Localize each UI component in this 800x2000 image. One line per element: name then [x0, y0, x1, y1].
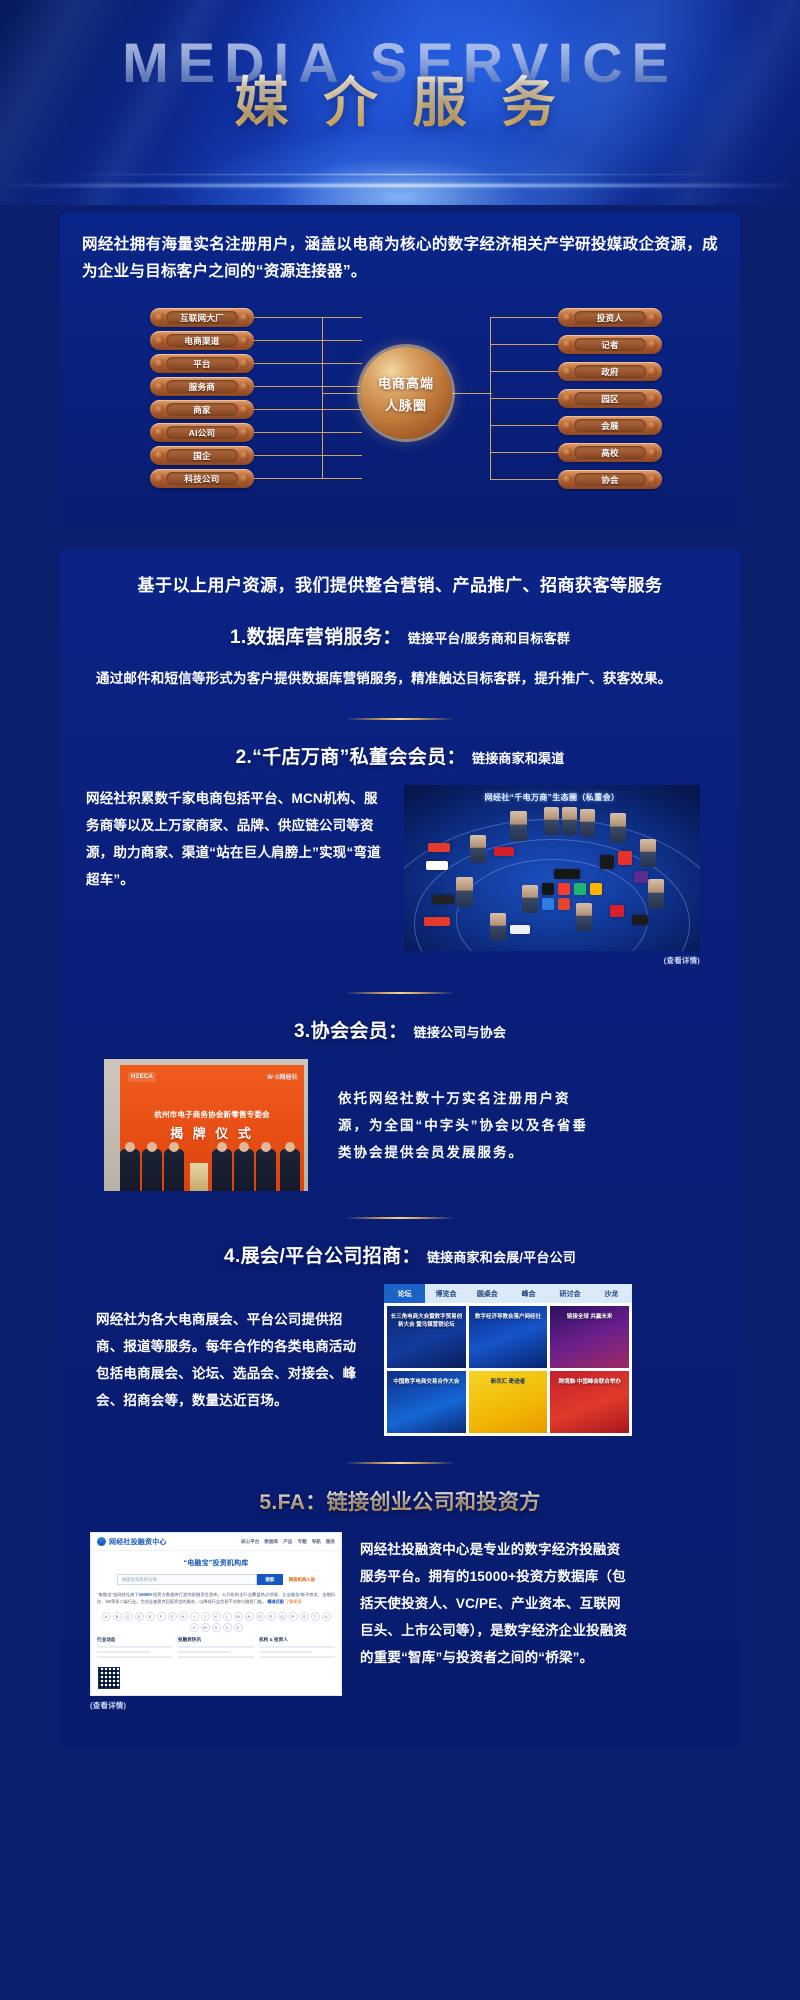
events-tab-bar[interactable]: 论坛 博览会 圆桌会 峰会 研讨会 沙龙 — [384, 1284, 632, 1303]
node-label: AI公司 — [189, 427, 216, 439]
person-photo — [580, 809, 595, 837]
nav-item-4[interactable]: 导航 — [312, 1539, 321, 1545]
section-5-image-block[interactable]: 网经社投融资中心 核心平台 数据库 产品 专题 导航 服务 “电融宝 — [90, 1532, 342, 1711]
node-label: 高校 — [601, 447, 619, 459]
node-label: 园区 — [601, 393, 619, 405]
qr-code-icon — [98, 1667, 120, 1689]
node-label: 互联网大厂 — [180, 312, 224, 324]
diagram-node-left[interactable]: 商家 — [150, 400, 254, 419]
az-letter[interactable]: H — [179, 1612, 188, 1621]
brand-logo-chip — [542, 883, 554, 895]
brand-logo-chip — [432, 895, 454, 904]
diagram-wire — [254, 455, 362, 456]
az-letter[interactable]: B — [113, 1612, 122, 1621]
az-letter[interactable]: M — [234, 1612, 243, 1621]
alphabet-filter[interactable]: A B C D E F G H I J K L M — [91, 1612, 341, 1632]
az-letter[interactable]: O — [256, 1612, 265, 1621]
event-card[interactable]: 长三角电商大会暨数字贸易创新大会 暨乌镇营销论坛 — [387, 1306, 466, 1368]
diagram-node-left[interactable]: AI公司 — [150, 423, 254, 442]
description-count: 15000+ — [139, 1592, 153, 1597]
node-label: 投资人 — [597, 312, 623, 324]
section-5-image-caption[interactable]: (查看详情) — [90, 1700, 342, 1711]
az-letter[interactable]: R — [289, 1612, 298, 1621]
az-letter[interactable]: F — [157, 1612, 166, 1621]
diagram-node-right[interactable]: 政府 — [558, 362, 662, 381]
diagram-wire — [254, 432, 362, 433]
brand-logo-chip — [632, 915, 648, 925]
diagram-wire — [490, 344, 558, 345]
diagram-hub: 电商高端 人脉圈 — [360, 347, 452, 439]
column-line — [97, 1646, 173, 1648]
section-1-title: 1.数据库营销服务：链接平台/服务商和目标客群 — [86, 622, 714, 649]
diagram-wire — [322, 317, 323, 479]
event-card-title: 长三角电商大会暨数字贸易创新大会 暨乌镇营销论坛 — [390, 1314, 463, 1329]
node-label: 政府 — [601, 366, 619, 378]
event-card-title: 数字经济导教会落户网经社 — [472, 1314, 545, 1321]
ecosystem-map-image: 网经社“千电万商”生态圈（私董会） — [404, 785, 700, 951]
diagram-wire — [254, 340, 362, 341]
section-2-title: 2.“千店万商”私董会会员：链接商家和渠道 — [86, 742, 714, 769]
horizon-glow-icon — [0, 184, 800, 187]
node-label: 记者 — [601, 339, 619, 351]
nav-item-1[interactable]: 数据库 — [264, 1539, 278, 1545]
section-2-image-block[interactable]: 网经社“千电万商”生态圈（私董会） — [404, 785, 700, 966]
az-letter[interactable]: A — [102, 1612, 111, 1621]
website-columns: 行业动态 投融资快讯 — [91, 1632, 341, 1658]
section-1-body: 通过邮件和短信等形式为客户提供数据库营销服务，精准触达目标客群，提升推广、获客效… — [86, 665, 714, 692]
section-5-title-main: 5.FA：链接创业公司和投资方 — [259, 1491, 540, 1514]
services-heading: 基于以上用户资源，我们提供整合营销、产品推广、招商获客等服务 — [86, 571, 714, 596]
diagram-node-right[interactable]: 协会 — [558, 470, 662, 489]
az-letter[interactable]: U — [322, 1612, 331, 1621]
person-photo — [576, 903, 592, 931]
section-divider — [345, 1217, 455, 1219]
az-letter[interactable]: V — [190, 1623, 199, 1632]
section-3-title-main: 3.协会会员： — [294, 1021, 408, 1042]
section-divider — [345, 718, 455, 720]
description-highlight-1[interactable]: 精准匹配 — [267, 1599, 284, 1604]
brand-logo-chip — [610, 905, 624, 917]
website-column: 机构 & 投资人 — [259, 1637, 335, 1658]
diagram-wire — [490, 398, 558, 399]
diagram-wire — [490, 425, 558, 426]
section-5-row: 网经社投融资中心 核心平台 数据库 产品 专题 导航 服务 “电融宝 — [86, 1532, 714, 1711]
nav-item-2[interactable]: 产品 — [283, 1539, 292, 1545]
brand-logo-chip — [510, 925, 530, 934]
section-3-title-sub: 链接公司与协会 — [414, 1025, 506, 1040]
intro-text: 网经社拥有海量实名注册用户，涵盖以电商为核心的数字经济相关产学研投媒政企资源，成… — [82, 231, 718, 285]
nav-item-0[interactable]: 核心平台 — [241, 1539, 259, 1545]
section-3-title: 3.协会会员：链接公司与协会 — [86, 1016, 714, 1043]
logo-dot-icon — [97, 1537, 106, 1546]
person-photo — [456, 877, 473, 907]
brand-logo-chip — [558, 898, 570, 910]
website-column: 行业动态 — [97, 1637, 173, 1658]
diagram-wire — [490, 452, 558, 453]
brand-logo-chip — [554, 869, 580, 879]
events-tab-5[interactable]: 沙龙 — [591, 1284, 632, 1303]
section-3-row: HZECA W·S网经社 杭州市电子商务协会新零售专委会 揭 牌 仪 式 — [86, 1059, 714, 1191]
az-letter[interactable]: Y — [223, 1623, 232, 1632]
brand-logo-chip — [574, 883, 586, 895]
section-2-row: 网经社积累数千家电商包括平台、MCN机构、服务商等以及上万家商家、品牌、供应链公… — [86, 785, 714, 966]
ceremony-plaque — [190, 1163, 208, 1191]
node-label: 平台 — [193, 358, 211, 370]
events-tab-2[interactable]: 圆桌会 — [467, 1284, 508, 1303]
hero-chinese-title: 媒 介 服 务 — [0, 58, 800, 137]
ceremony-line2: 揭 牌 仪 式 — [120, 1123, 304, 1142]
section-1-title-sub: 链接平台/服务商和目标客群 — [408, 631, 570, 646]
hzeca-logo: HZECA — [128, 1072, 156, 1082]
az-letter[interactable]: G — [168, 1612, 177, 1621]
events-tab-1[interactable]: 博览会 — [425, 1284, 466, 1303]
az-letter[interactable]: W — [201, 1623, 210, 1632]
diagram-wire — [490, 479, 558, 480]
brand-logo-chip — [428, 843, 450, 852]
column-line — [259, 1646, 335, 1648]
event-card[interactable]: 新农汇 奇迹者 — [469, 1371, 548, 1433]
events-tab-3[interactable]: 峰会 — [508, 1284, 549, 1303]
section-2-title-sub: 链接商家和渠道 — [472, 751, 564, 766]
column-line — [97, 1656, 173, 1658]
section-4-row: 网经社为各大电商展会、平台公司提供招商、报道等服务。每年合作的各类电商活动包括电… — [86, 1284, 714, 1436]
website-logo: 网经社投融资中心 — [97, 1537, 167, 1547]
ecosystem-map-title: 网经社“千电万商”生态圈（私董会） — [404, 792, 700, 803]
az-letter[interactable]: Q — [278, 1612, 287, 1621]
hero-banner: MEDIA SERVICE 媒 介 服 务 — [0, 0, 800, 205]
az-letter[interactable]: N — [245, 1612, 254, 1621]
search-button[interactable]: 搜索 — [257, 1574, 283, 1585]
description-highlight-2[interactable]: 了解更多 — [285, 1599, 302, 1604]
service-section-1: 1.数据库营销服务：链接平台/服务商和目标客群 通过邮件和短信等形式为客户提供数… — [86, 622, 714, 692]
brand-logo-chip — [424, 917, 450, 926]
diagram-wire — [490, 317, 558, 318]
section-divider — [345, 992, 455, 994]
az-letter[interactable]: K — [212, 1612, 221, 1621]
website-nav[interactable]: 核心平台 数据库 产品 专题 导航 服务 — [241, 1539, 335, 1545]
event-card[interactable]: 数字经济导教会落户网经社 — [469, 1306, 548, 1368]
person-photo — [490, 913, 506, 941]
brand-logo-chip — [426, 861, 448, 870]
person-photo — [470, 835, 486, 863]
institution-signup-link[interactable]: 网投机构入驻 — [289, 1577, 315, 1583]
diagram-node-right[interactable]: 会展 — [558, 416, 662, 435]
event-card-title: 链接全球 共赢未来 — [553, 1314, 626, 1321]
website-description: “电融宝”由网经社旗下15000+投资方数据库打造的投融资信息库，公开机构全行业… — [97, 1592, 335, 1606]
ceremony-photo-image: HZECA W·S网经社 杭州市电子商务协会新零售专委会 揭 牌 仪 式 — [104, 1059, 308, 1191]
column-line — [178, 1651, 231, 1653]
az-letter[interactable]: Z — [234, 1623, 243, 1632]
az-letter[interactable]: C — [124, 1612, 133, 1621]
diagram-wire — [254, 386, 362, 387]
node-label: 国企 — [193, 450, 211, 462]
hub-label-line2: 人脉圈 — [385, 395, 427, 414]
az-letter[interactable]: E — [146, 1612, 155, 1621]
brand-logo-chip — [634, 871, 648, 883]
website-search-row: 搜索投资机构名称 搜索 网投机构入驻 — [91, 1574, 341, 1585]
ceremony-line1: 杭州市电子商务协会新零售专委会 — [120, 1109, 304, 1120]
brand-logo-chip — [542, 898, 554, 910]
column-title: 行业动态 — [97, 1637, 173, 1643]
diagram-node-right[interactable]: 记者 — [558, 335, 662, 354]
diagram-node-left[interactable]: 电商渠道 — [150, 331, 254, 350]
section-4-body: 网经社为各大电商展会、平台公司提供招商、报道等服务。每年合作的各类电商活动包括电… — [96, 1306, 366, 1414]
events-tab-0[interactable]: 论坛 — [384, 1284, 425, 1303]
column-line — [259, 1651, 312, 1653]
az-letter[interactable]: I — [190, 1612, 199, 1621]
section-4-title-sub: 链接商家和会展/平台公司 — [427, 1250, 576, 1265]
section-2-title-main: 2.“千店万商”私董会会员： — [236, 747, 466, 768]
brand-logo-chip — [558, 883, 570, 895]
event-card-title: 中国数字电商交易合作大会 — [390, 1379, 463, 1386]
brand-logo-chip — [618, 851, 632, 865]
column-line — [97, 1651, 150, 1653]
node-label: 商家 — [193, 404, 211, 416]
section-4-title: 4.展会/平台公司招商：链接商家和会展/平台公司 — [86, 1241, 714, 1268]
az-letter[interactable]: P — [267, 1612, 276, 1621]
service-section-5: 5.FA：链接创业公司和投资方 网经社投融资中心 核心平台 数据库 — [86, 1486, 714, 1711]
node-label: 会展 — [601, 420, 619, 432]
diagram-node-right[interactable]: 高校 — [558, 443, 662, 462]
person-photo — [648, 879, 664, 909]
diagram-node-left[interactable]: 平台 — [150, 354, 254, 373]
person-photo — [562, 807, 577, 835]
event-card[interactable]: 中国数字电商交易合作大会 — [387, 1371, 466, 1433]
section-5-title: 5.FA：链接创业公司和投资方 — [86, 1486, 714, 1516]
event-card[interactable]: 链接全球 共赢未来 — [550, 1306, 629, 1368]
column-line — [259, 1656, 335, 1658]
events-tab-4[interactable]: 研讨会 — [549, 1284, 590, 1303]
website-column: 投融资快讯 — [178, 1637, 254, 1658]
section-2-body: 网经社积累数千家电商包括平台、MCN机构、服务商等以及上万家商家、品牌、供应链公… — [86, 785, 386, 893]
brand-logo-chip — [494, 847, 514, 856]
az-letter[interactable]: X — [212, 1623, 221, 1632]
event-card-title: 新农汇 奇迹者 — [472, 1379, 545, 1386]
events-grid-image: 论坛 博览会 圆桌会 峰会 研讨会 沙龙 长三角电商大会暨数字贸易创新大会 暨乌… — [384, 1284, 632, 1436]
person-photo — [510, 811, 527, 841]
events-card-grid: 长三角电商大会暨数字贸易创新大会 暨乌镇营销论坛 数字经济导教会落户网经社 链接… — [384, 1303, 632, 1436]
az-letter[interactable]: S — [300, 1612, 309, 1621]
diagram-node-right[interactable]: 园区 — [558, 389, 662, 408]
section-4-title-main: 4.展会/平台公司招商： — [224, 1246, 421, 1267]
hub-label-line1: 电商高端 — [378, 373, 434, 392]
event-card-title: 跨境脑·中国峰会联合举办 — [553, 1379, 626, 1386]
column-line — [178, 1656, 254, 1658]
section-1-title-main: 1.数据库营销服务： — [230, 627, 402, 648]
service-section-2: 2.“千店万商”私董会会员：链接商家和渠道 网经社积累数千家电商包括平台、MCN… — [86, 742, 714, 966]
diagram-wire — [254, 478, 362, 479]
column-line — [178, 1646, 254, 1648]
brand-logo-chip — [590, 883, 602, 895]
section-3-image-block[interactable]: HZECA W·S网经社 杭州市电子商务协会新零售专委会 揭 牌 仪 式 — [104, 1059, 308, 1191]
az-letter[interactable]: L — [223, 1612, 232, 1621]
column-title: 机构 & 投资人 — [259, 1637, 335, 1643]
node-label: 电商渠道 — [184, 335, 219, 347]
event-card[interactable]: 跨境脑·中国峰会联合举办 — [550, 1371, 629, 1433]
diagram-wire — [254, 317, 362, 318]
description-lead: “电融宝”由网经社旗下 — [97, 1592, 139, 1597]
node-label: 科技公司 — [184, 473, 219, 485]
website-headline: “电融宝”投资机构库 — [91, 1558, 341, 1568]
person-photo — [610, 813, 626, 843]
diagram-wire — [254, 363, 362, 364]
section-3-body: 依托网经社数十万实名注册用户资源，为全国“中字头”协会以及各省垂类协会提供会员发… — [338, 1085, 598, 1166]
node-label: 服务商 — [189, 381, 215, 393]
website-logo-text: 网经社投融资中心 — [109, 1537, 167, 1547]
az-letter[interactable]: T — [311, 1612, 320, 1621]
person-photo — [640, 839, 656, 867]
diagram-node-left[interactable]: 科技公司 — [150, 469, 254, 488]
horizon-glow-line-icon — [60, 174, 740, 175]
node-label: 协会 — [601, 474, 619, 486]
diagram-node-right[interactable]: 投资人 — [558, 308, 662, 327]
wangjingshe-logo: W·S网经社 — [267, 1072, 298, 1081]
section-divider — [345, 1462, 455, 1464]
diagram-node-left[interactable]: 国企 — [150, 446, 254, 465]
person-photo — [544, 807, 559, 835]
poster-page: MEDIA SERVICE 媒 介 服 务 网经社拥有海量实名注册用户，涵盖以电… — [0, 0, 800, 2000]
service-section-4: 4.展会/平台公司招商：链接商家和会展/平台公司 网经社为各大电商展会、平台公司… — [86, 1241, 714, 1436]
section-4-image-block[interactable]: 论坛 博览会 圆桌会 峰会 研讨会 沙龙 长三角电商大会暨数字贸易创新大会 暨乌… — [384, 1284, 632, 1436]
investment-website-image: 网经社投融资中心 核心平台 数据库 产品 专题 导航 服务 “电融宝 — [90, 1532, 342, 1696]
person-photo — [522, 885, 538, 913]
brand-logo-chip — [600, 855, 614, 869]
diagram-node-left[interactable]: 服务商 — [150, 377, 254, 396]
service-section-3: 3.协会会员：链接公司与协会 HZECA W·S网经社 杭州市电子商务协会新零售… — [86, 1016, 714, 1191]
diagram-wire — [254, 409, 362, 410]
intro-panel: 网经社拥有海量实名注册用户，涵盖以电商为核心的数字经济相关产学研投媒政企资源，成… — [60, 213, 740, 525]
section-5-body: 网经社投融资中心是专业的数字经济投融资服务平台。拥有的15000+投资方数据库（… — [360, 1536, 630, 1671]
diagram-node-left[interactable]: 互联网大厂 — [150, 308, 254, 327]
network-diagram: 互联网大厂 电商渠道 平台 服务商 商家 AI公司 国企 科技公司 电商高端 人… — [82, 299, 718, 509]
diagram-wire — [490, 371, 558, 372]
services-panel: 基于以上用户资源，我们提供整合营销、产品推广、招商获客等服务 1.数据库营销服务… — [60, 549, 740, 1749]
column-title: 投融资快讯 — [178, 1637, 254, 1643]
section-2-image-caption[interactable]: (查看详情) — [404, 955, 700, 966]
nav-item-5[interactable]: 服务 — [326, 1539, 335, 1545]
az-letter[interactable]: J — [201, 1612, 210, 1621]
nav-item-3[interactable]: 专题 — [297, 1539, 306, 1545]
website-header: 网经社投融资中心 核心平台 数据库 产品 专题 导航 服务 — [91, 1533, 341, 1551]
search-input[interactable]: 搜索投资机构名称 — [117, 1574, 257, 1585]
az-letter[interactable]: D — [135, 1612, 144, 1621]
